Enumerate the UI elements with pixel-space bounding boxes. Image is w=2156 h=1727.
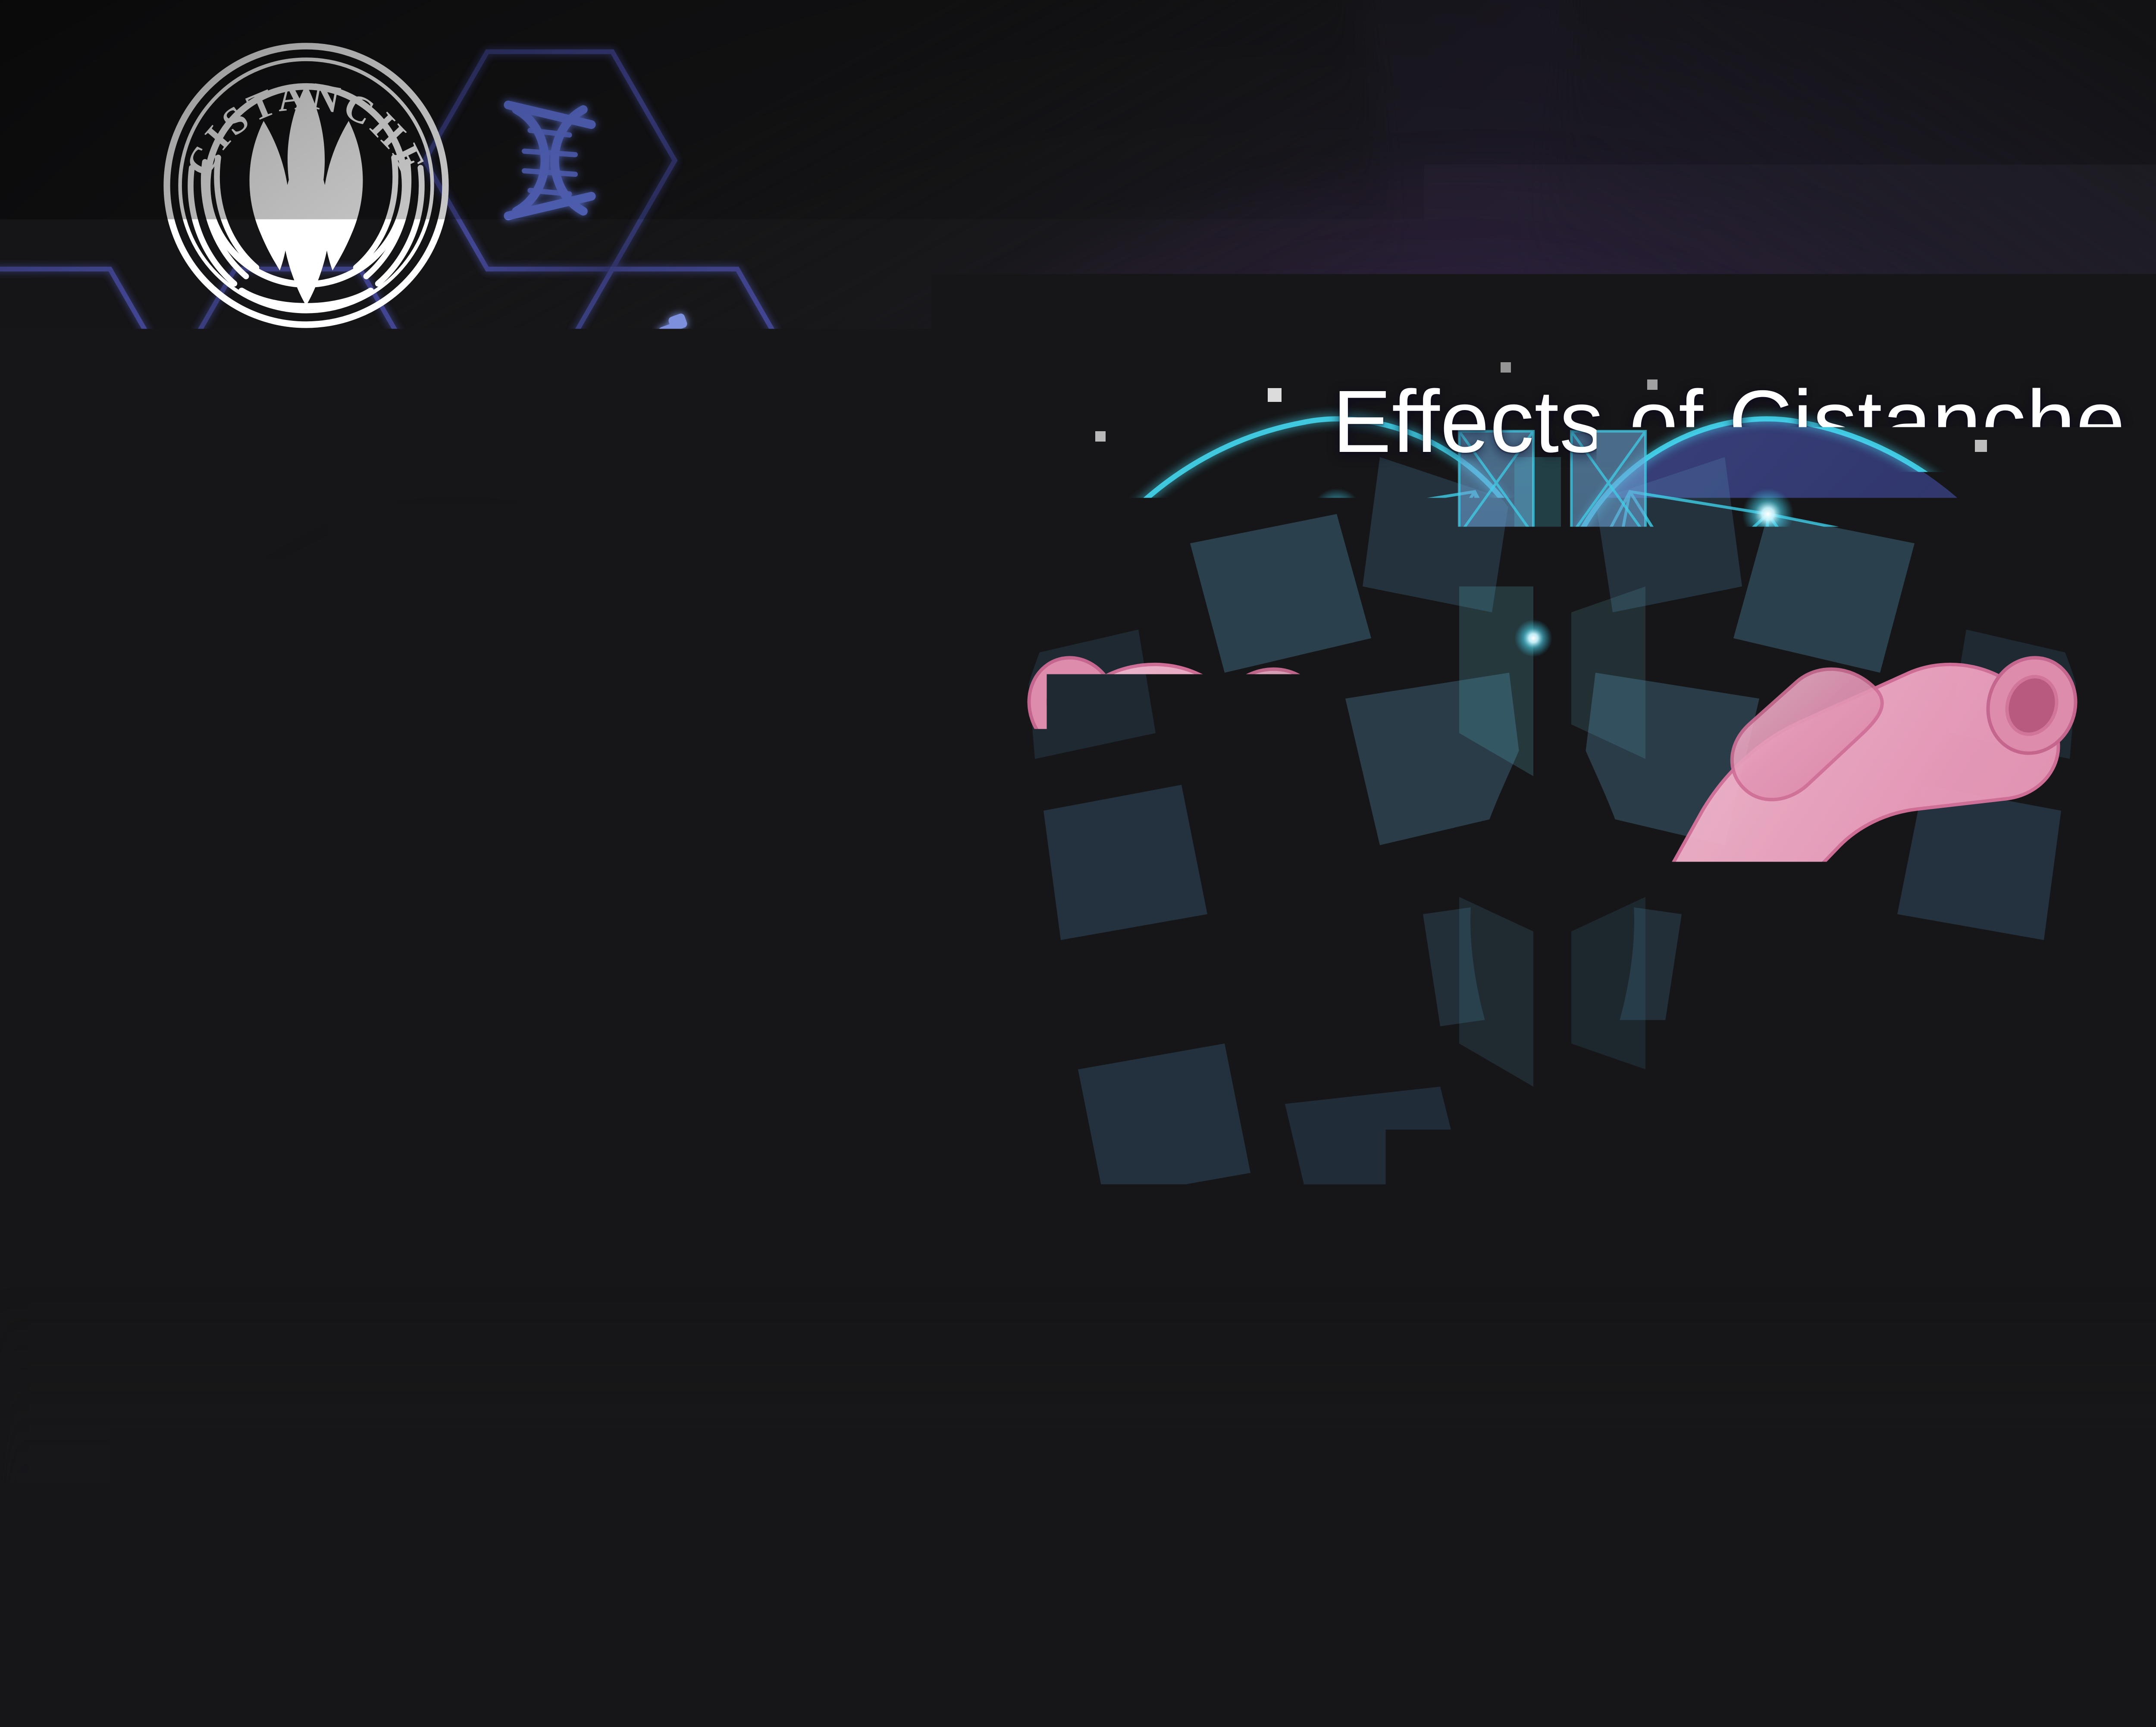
cistanche-kidney-banner: CISTANCHE WECISTANCHE Effects — [0, 0, 2156, 1727]
vignette-overlay — [0, 0, 2156, 1727]
